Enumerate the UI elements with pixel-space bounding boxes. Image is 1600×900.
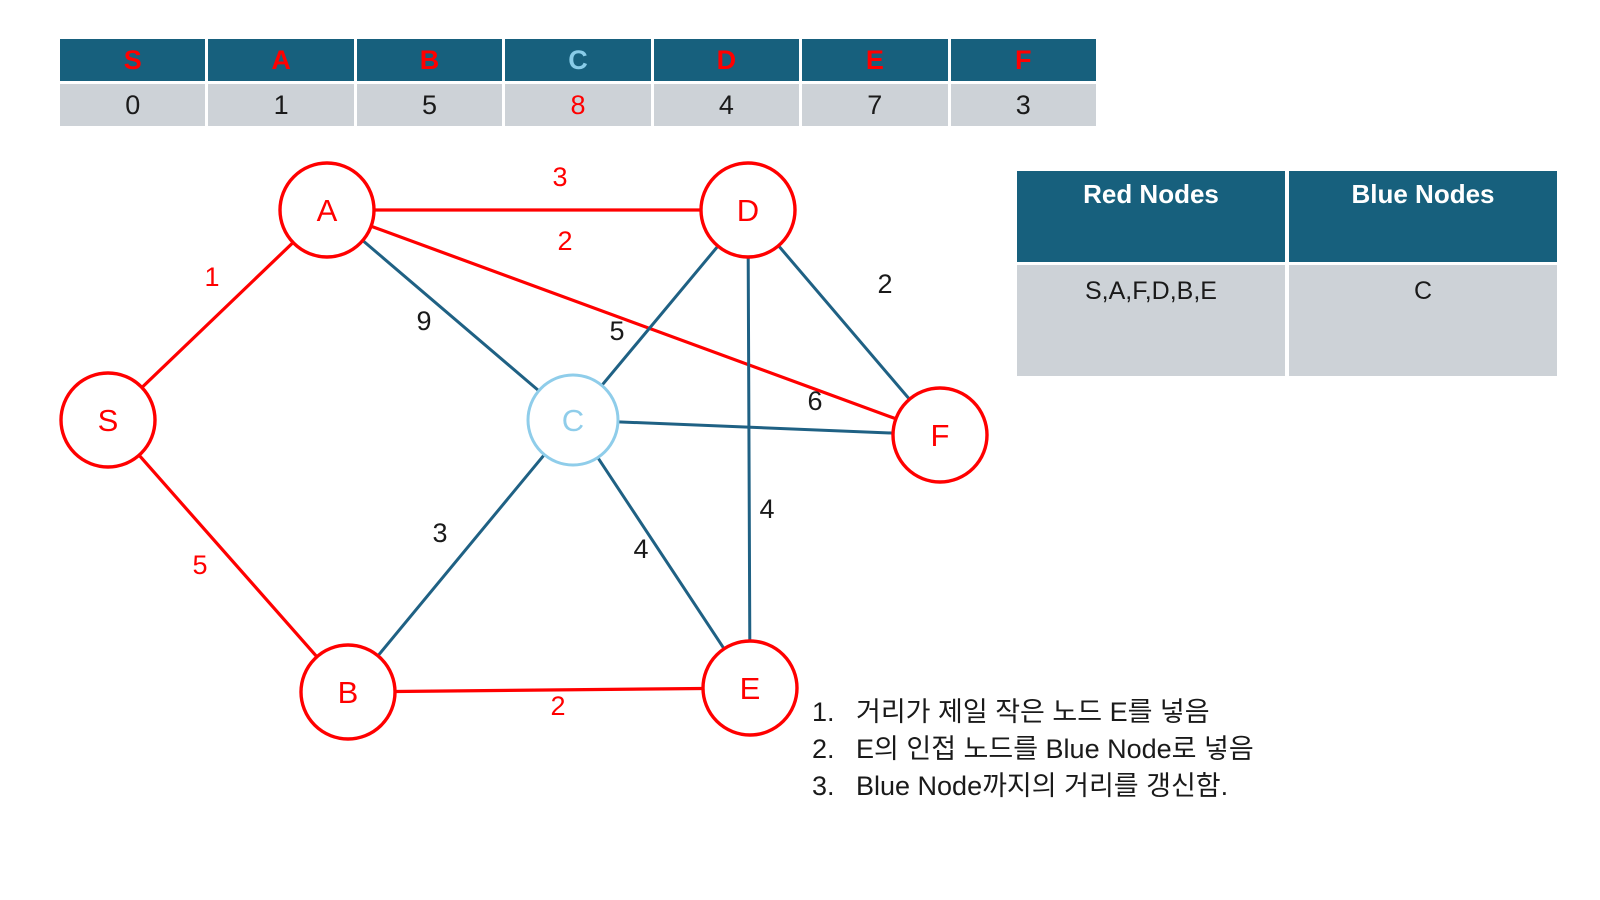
distance-table: S A B C D E F 0 1 5 8 4 7 3 — [57, 36, 1099, 129]
step-text-3: Blue Node까지의 거리를 갱신함. — [856, 768, 1452, 805]
distance-value-e: 7 — [802, 84, 947, 126]
step-item-1: 1. 거리가 제일 작은 노드 E를 넣음 — [812, 694, 1452, 731]
distance-header-s: S — [60, 39, 205, 81]
graph-nodes — [61, 163, 987, 739]
edge-weight-a-f: 2 — [557, 226, 572, 256]
distance-value-c: 8 — [505, 84, 650, 126]
distance-value-s: 0 — [60, 84, 205, 126]
graph-node-label-s: S — [98, 403, 119, 438]
distance-table-value-row: 0 1 5 8 4 7 3 — [60, 84, 1096, 126]
distance-header-c: C — [505, 39, 650, 81]
edge-weight-a-c: 9 — [416, 306, 431, 336]
graph-node-label-d: D — [737, 193, 759, 228]
distance-table-header-row: S A B C D E F — [60, 39, 1096, 81]
graph-edge-c-f — [618, 422, 893, 433]
step-number-2: 2. — [812, 731, 856, 768]
steps-list: 1. 거리가 제일 작은 노드 E를 넣음 2. E의 인접 노드를 Blue … — [812, 694, 1452, 805]
distance-header-e: E — [802, 39, 947, 81]
distance-value-d: 4 — [654, 84, 799, 126]
distance-value-b: 5 — [357, 84, 502, 126]
edge-weight-a-d: 3 — [552, 162, 567, 192]
step-text-1: 거리가 제일 작은 노드 E를 넣음 — [856, 694, 1452, 731]
graph-node-label-c: C — [562, 403, 584, 438]
graph-node-label-a: A — [317, 193, 338, 228]
distance-header-f: F — [951, 39, 1096, 81]
distance-value-f: 3 — [951, 84, 1096, 126]
edge-weight-s-a: 1 — [204, 262, 219, 292]
edge-weight-c-f: 6 — [807, 386, 822, 416]
graph-edge-c-b — [378, 455, 544, 656]
edge-weight-d-f: 2 — [877, 269, 892, 299]
step-number-3: 3. — [812, 768, 856, 805]
graph-node-label-b: B — [338, 675, 359, 710]
graph-node-label-f: F — [931, 418, 950, 453]
node-sets-value-row: S,A,F,D,B,E C — [1017, 265, 1557, 376]
step-item-3: 3. Blue Node까지의 거리를 갱신함. — [812, 768, 1452, 805]
node-sets-table: Red Nodes Blue Nodes S,A,F,D,B,E C — [1013, 168, 1561, 379]
distance-header-b: B — [357, 39, 502, 81]
graph-edge-b-e — [395, 688, 703, 691]
dijkstra-graph: 153295634242 SABCDEF — [0, 130, 1010, 770]
graph-edge-a-c — [363, 241, 539, 391]
distance-header-a: A — [208, 39, 353, 81]
edge-weight-b-e: 2 — [550, 691, 565, 721]
graph-edge-d-e — [748, 257, 750, 641]
graph-edge-s-b — [139, 455, 317, 657]
red-nodes-header: Red Nodes — [1017, 171, 1285, 262]
node-sets-header-row: Red Nodes Blue Nodes — [1017, 171, 1557, 262]
edge-weight-c-b: 3 — [432, 518, 447, 548]
step-item-2: 2. E의 인접 노드를 Blue Node로 넣음 — [812, 731, 1452, 768]
red-nodes-value: S,A,F,D,B,E — [1017, 265, 1285, 376]
step-text-2: E의 인접 노드를 Blue Node로 넣음 — [856, 731, 1452, 768]
edge-weight-s-b: 5 — [192, 550, 207, 580]
graph-edge-c-e — [598, 458, 724, 649]
distance-header-d: D — [654, 39, 799, 81]
step-number-1: 1. — [812, 694, 856, 731]
blue-nodes-header: Blue Nodes — [1289, 171, 1557, 262]
edge-weight-c-e: 4 — [633, 534, 648, 564]
graph-node-labels: SABCDEF — [98, 193, 950, 710]
graph-edges — [139, 210, 909, 692]
edge-weight-d-e: 4 — [759, 494, 774, 524]
blue-nodes-value: C — [1289, 265, 1557, 376]
distance-value-a: 1 — [208, 84, 353, 126]
edge-weight-c-d: 5 — [609, 316, 624, 346]
graph-node-label-e: E — [740, 671, 761, 706]
